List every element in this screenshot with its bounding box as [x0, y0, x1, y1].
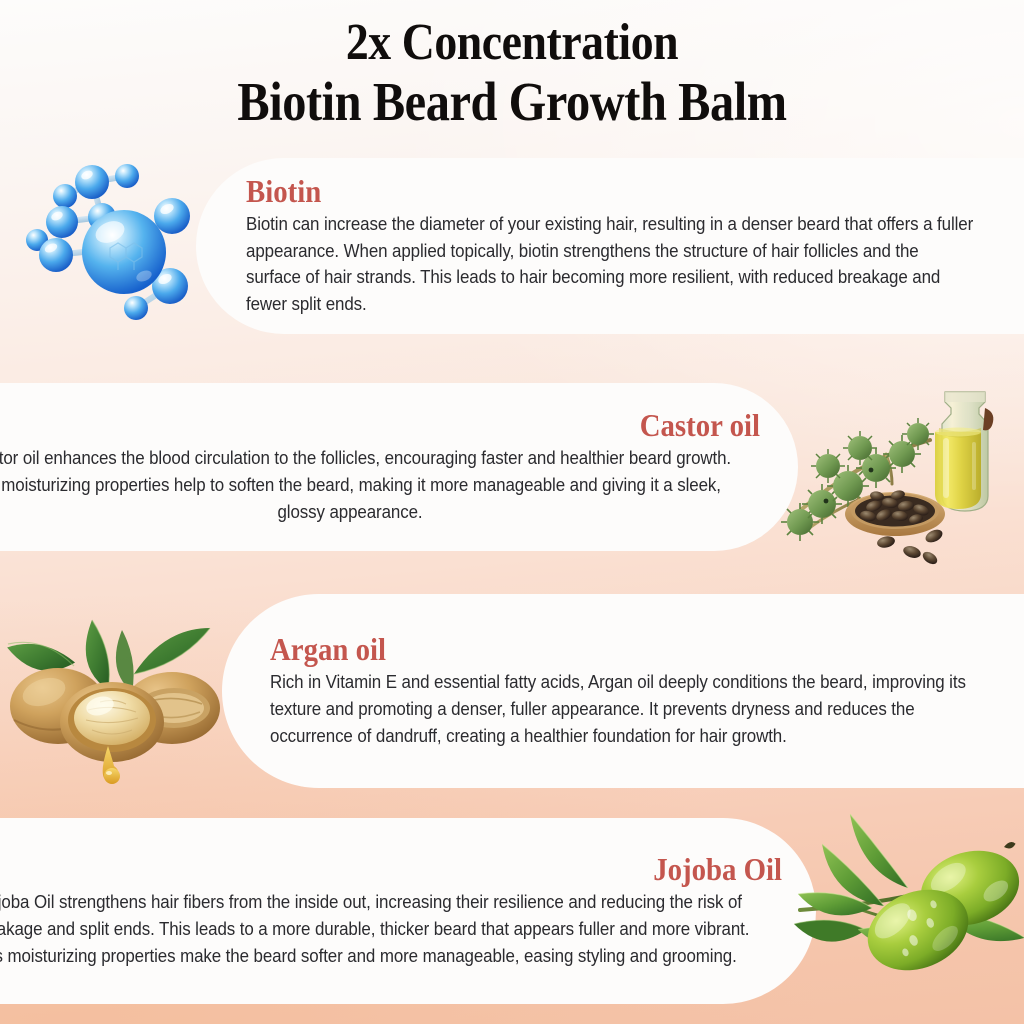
- olive-fruit-icon: [792, 806, 1024, 1006]
- ingredient-card-argan: Argan oil Rich in Vitamin E and essentia…: [222, 594, 1024, 788]
- ingredient-card-jojoba: Jojoba Oil Jojoba Oil strengthens hair f…: [0, 818, 816, 1004]
- ingredient-card-biotin: Biotin Biotin can increase the diameter …: [196, 158, 1024, 334]
- ingredient-body-argan: Rich in Vitamin E and essential fatty ac…: [270, 669, 988, 749]
- molecule-icon: [24, 160, 220, 340]
- ingredient-body-biotin: Biotin can increase the diameter of your…: [246, 211, 975, 317]
- product-infographic-poster: 2x Concentration Biotin Beard Growth Bal…: [0, 0, 1024, 1024]
- poster-title: 2x Concentration Biotin Beard Growth Bal…: [0, 16, 1024, 130]
- ingredient-heading-jojoba: Jojoba Oil: [24, 853, 782, 887]
- title-line-primary: 2x Concentration: [61, 16, 962, 69]
- title-line-secondary: Biotin Beard Growth Balm: [61, 74, 962, 130]
- ingredient-body-jojoba: Jojoba Oil strengthens hair fibers from …: [0, 889, 753, 969]
- ingredient-heading-biotin: Biotin: [246, 175, 952, 209]
- argan-nut-icon: [0, 596, 228, 788]
- ingredient-heading-argan: Argan oil: [270, 633, 965, 667]
- castor-plant-icon: [782, 372, 1024, 570]
- ingredient-card-castor: Castor oil Castor oil enhances the blood…: [0, 383, 798, 551]
- ingredient-body-castor: Castor oil enhances the blood circulatio…: [0, 445, 731, 525]
- ingredient-heading-castor: Castor oil: [22, 409, 760, 443]
